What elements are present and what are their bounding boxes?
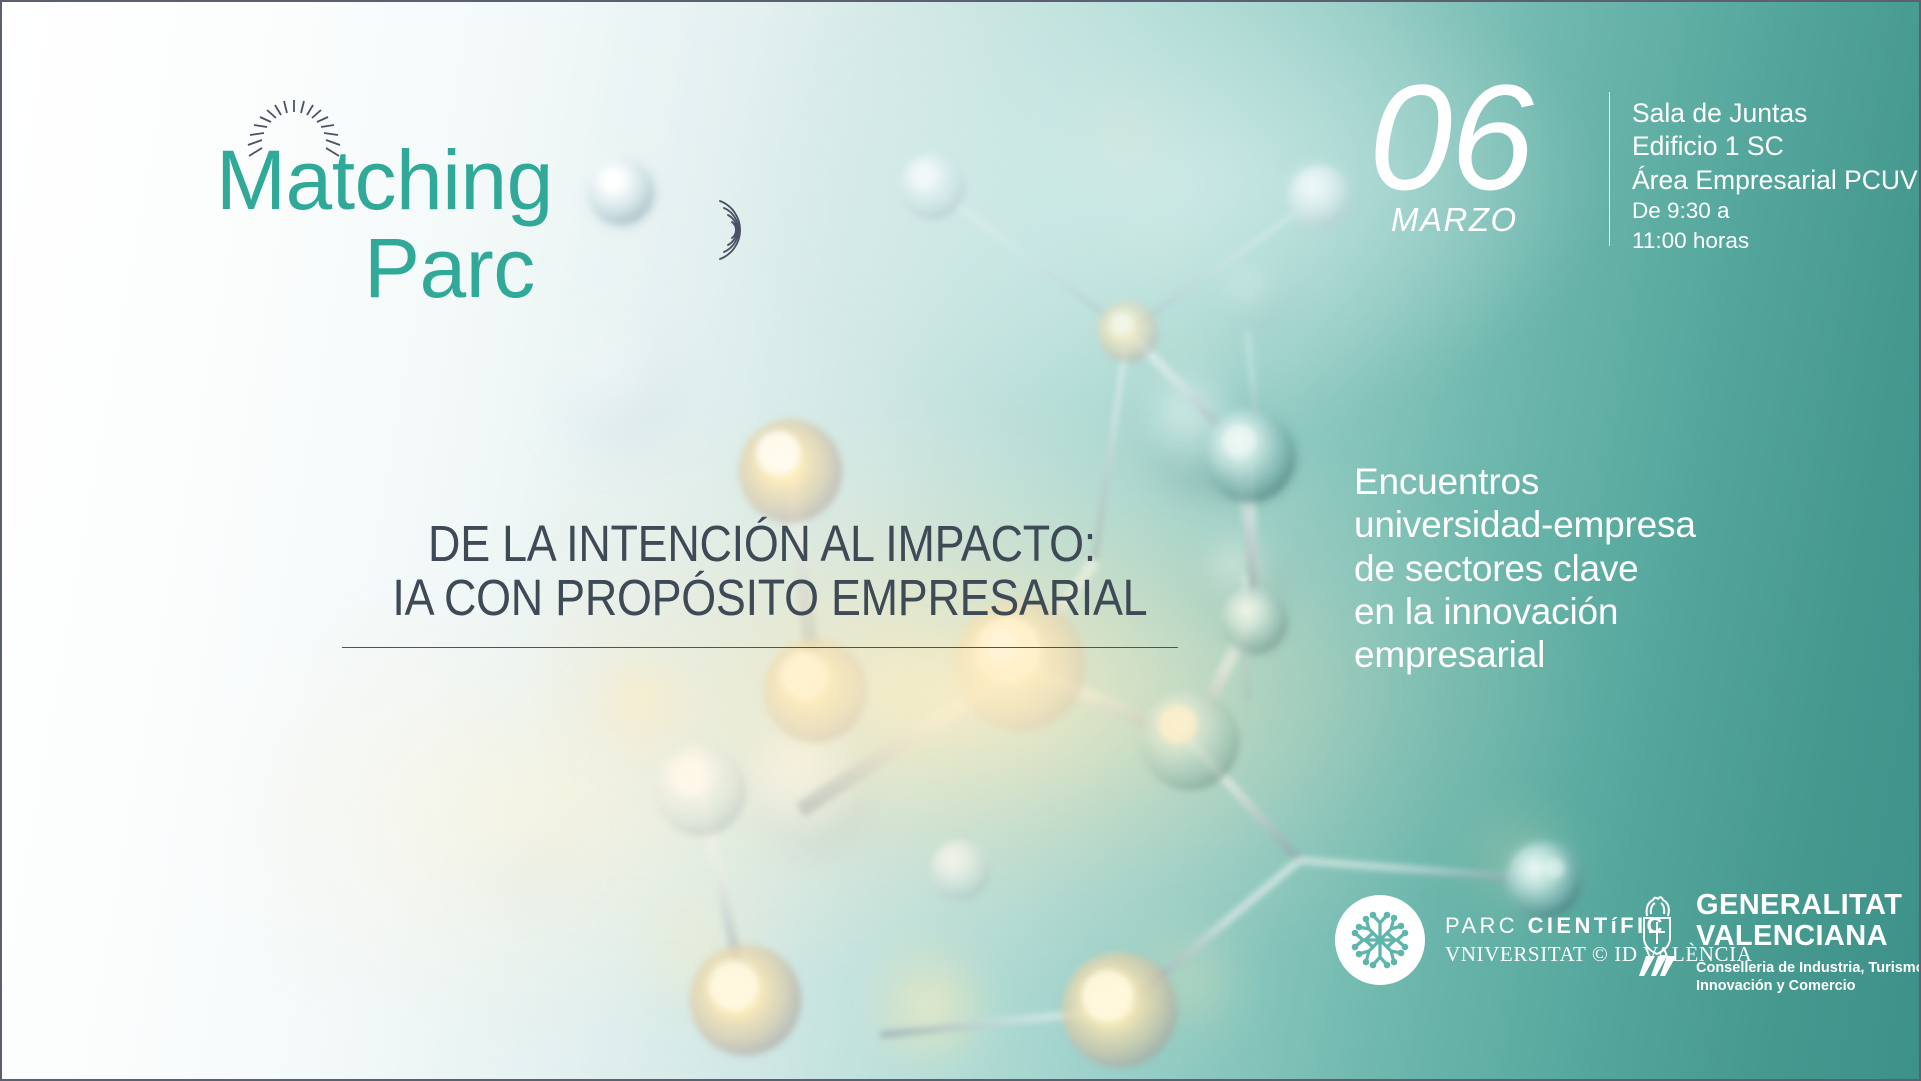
generalitat-valenciana-crest-icon xyxy=(1635,892,1681,978)
gva-department-line2: Innovación y Comercio xyxy=(1696,977,1921,995)
date-day: 06 xyxy=(1369,76,1532,199)
brand-name-line2: Parc xyxy=(364,226,553,310)
title-underline-rule xyxy=(342,647,1178,648)
venue-line-2: Edificio 1 SC xyxy=(1632,130,1918,163)
time-info: De 9:30 a 11:00 horas xyxy=(1632,196,1749,256)
description-line-1: Encuentros xyxy=(1354,460,1696,503)
date-divider-line xyxy=(1609,92,1610,246)
pcuv-name-light: PARC xyxy=(1445,913,1528,938)
gva-department-line1: Conselleria de Industria, Turismo, xyxy=(1696,959,1921,977)
sunburst-icon xyxy=(246,98,342,160)
description-line-3: de sectores clave xyxy=(1354,547,1696,590)
event-poster: Matching Parc 06 MARZO Sala de Juntas Ed… xyxy=(0,0,1921,1081)
parc-cientific-emblem-icon xyxy=(1335,895,1425,985)
generalitat-valenciana-logo: GENERALITAT VALENCIANA Conselleria de In… xyxy=(1635,890,1921,996)
page-title: DE LA INTENCIÓN AL IMPACTO: IA CON PROPÓ… xyxy=(342,517,1182,648)
event-date: 06 MARZO xyxy=(1369,76,1532,239)
gva-name-line2: VALENCIANA xyxy=(1696,921,1921,952)
description-line-2: universidad-empresa xyxy=(1354,503,1696,546)
venue-line-3: Área Empresarial PCUV xyxy=(1632,164,1918,197)
matching-parc-logo: Matching Parc xyxy=(216,98,553,310)
signal-wave-icon xyxy=(712,194,768,266)
time-line-2: 11:00 horas xyxy=(1632,226,1749,256)
venue-info: Sala de Juntas Edificio 1 SC Área Empres… xyxy=(1632,97,1918,197)
description-line-5: empresarial xyxy=(1354,633,1696,676)
description-line-4: en la innovación xyxy=(1354,590,1696,633)
time-line-1: De 9:30 a xyxy=(1632,196,1749,226)
event-description: Encuentros universidad-empresa de sector… xyxy=(1354,460,1696,676)
date-month: MARZO xyxy=(1391,201,1532,239)
title-line-1: DE LA INTENCIÓN AL IMPACTO: xyxy=(392,517,1131,571)
venue-line-1: Sala de Juntas xyxy=(1632,97,1918,130)
gva-name-line1: GENERALITAT xyxy=(1696,890,1921,921)
title-line-2: IA CON PROPÓSITO EMPRESARIAL xyxy=(392,571,1131,625)
